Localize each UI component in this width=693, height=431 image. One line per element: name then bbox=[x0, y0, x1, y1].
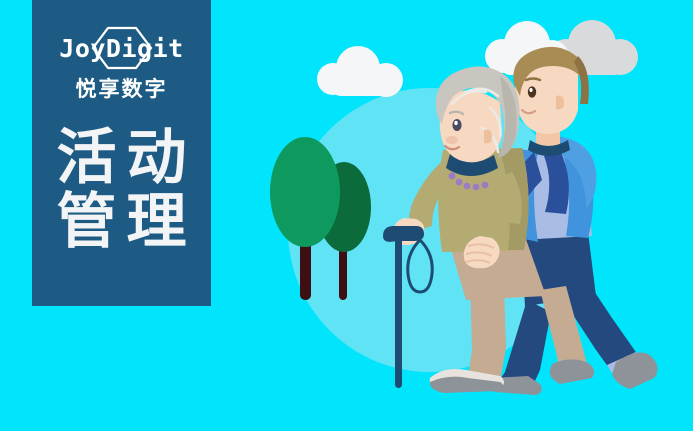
logo-wordmark: JoyDigit bbox=[59, 36, 183, 61]
title-panel: JoyDigit 悦享数字 活动 管理 bbox=[32, 0, 211, 306]
man-eye-glint bbox=[529, 88, 532, 92]
page-title: 活动 管理 bbox=[47, 126, 197, 253]
logo-mark: JoyDigit bbox=[47, 26, 197, 70]
woman-cheek bbox=[446, 136, 458, 144]
page-title-line-2: 管理 bbox=[47, 190, 197, 254]
man-ear bbox=[556, 96, 564, 110]
cloud-left bbox=[317, 46, 403, 97]
woman-front-shoe bbox=[550, 359, 594, 384]
cane-handle bbox=[383, 226, 424, 242]
woman-ear bbox=[484, 130, 492, 144]
brand-logo: JoyDigit 悦享数字 bbox=[32, 26, 211, 100]
man-eye bbox=[528, 86, 536, 97]
logo-subtitle: 悦享数字 bbox=[76, 79, 168, 100]
page-title-line-1: 活动 bbox=[47, 126, 197, 190]
cane-shaft bbox=[395, 238, 402, 388]
woman-eye bbox=[452, 119, 461, 131]
woman-eye-glint bbox=[454, 121, 457, 125]
banner-canvas: JoyDigit 悦享数字 活动 管理 bbox=[0, 0, 693, 431]
